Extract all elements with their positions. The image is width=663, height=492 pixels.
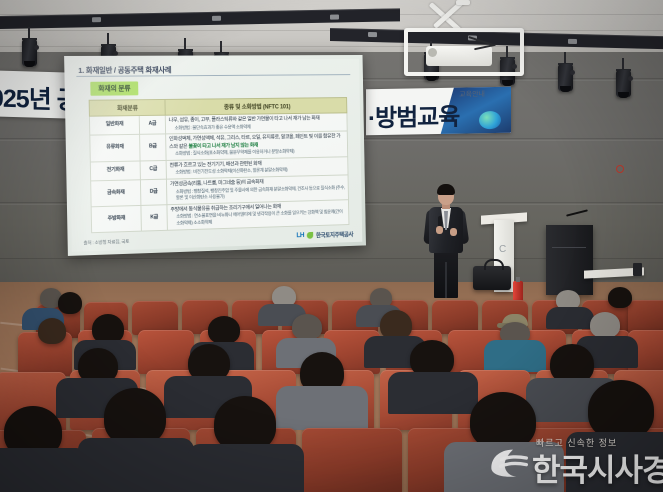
audience-head — [58, 292, 82, 314]
row-grade: B급 — [140, 134, 167, 161]
row-name: 유류화재 — [90, 134, 140, 161]
th-classification: 화재분류 — [89, 99, 165, 116]
audience-head — [38, 318, 66, 344]
seat — [628, 300, 663, 334]
wave-logo-icon — [488, 446, 528, 480]
row-name: 금속화재 — [91, 180, 141, 207]
audience-shoulders — [78, 438, 194, 492]
leaf-icon — [307, 232, 314, 239]
wall-marker — [616, 165, 624, 173]
row-grade: A급 — [139, 115, 165, 134]
row-desc: 주방에서 동식물유를 취급하는 조리기구에서 일어나는 화재 소화방법 : 연소… — [167, 200, 349, 230]
banner-right-text: ·방범교육 — [368, 97, 459, 134]
row-desc: 인화성액체, 가연성액체, 석유, 그리스, 타르, 오일, 유지류로, 알코올… — [166, 131, 348, 160]
watermark: 빠르고 신속한 정보 한국시사경제 — [488, 436, 658, 486]
banner-right-sub: 교육안내 — [459, 89, 485, 99]
seat — [138, 330, 194, 374]
watermark-name: 한국시사경제 — [532, 445, 663, 490]
projection-screen: 1. 화재일반 / 공동주택 화재사례 화재의 분류 화재분류 종류 및 소화방… — [64, 55, 366, 256]
lh-logo-mark: LH — [296, 232, 304, 239]
row-desc-highlight: 불꽃이 타고 나서 재가 남지 않는 화재 — [188, 142, 258, 149]
banner-right: 교육안내 ·방범교육 — [366, 87, 511, 136]
audience-head — [608, 287, 632, 308]
slide-title: 1. 화재일반 / 공동주택 화재사례 — [78, 64, 171, 75]
bag — [473, 266, 511, 290]
slide-section-tag: 화재의 분류 — [90, 81, 138, 95]
audience-shoulders — [484, 340, 546, 372]
wall-control-box — [633, 263, 642, 276]
audience-head — [208, 316, 240, 344]
slide-content: 1. 화재일반 / 공동주택 화재사례 화재의 분류 화재분류 종류 및 소화방… — [68, 59, 362, 252]
row-name: 주방화재 — [91, 205, 141, 232]
row-desc-method: 소화방법 : 물단속효과가 좋은 수용액 소화약제 — [169, 122, 344, 131]
audience-head — [590, 312, 620, 338]
row-grade: K급 — [141, 205, 167, 231]
audience-shoulders — [276, 386, 368, 430]
projector-icon — [404, 2, 516, 68]
lectern-symbol: C — [499, 244, 506, 255]
projector-lens — [428, 48, 437, 57]
audience-head — [588, 380, 654, 440]
audience-shoulders — [0, 448, 88, 492]
row-desc-main: 나무, 섬유, 종이, 고무, 플라스틱류와 같은 일반 가연물이 타고 나서 … — [169, 116, 320, 124]
row-desc-main: 가연성금속(리튬, 나트륨, 마그네슘 등)의 금속화재 — [170, 179, 264, 187]
slide-footer: 출처 : 소방청 자료집, 국토 — [83, 239, 129, 246]
row-grade: D급 — [140, 179, 166, 205]
row-grade: C급 — [140, 160, 166, 179]
fire-classification-table: 화재분류 종류 및 소화방법 (NFTC 101) 일반화재 A급 나무, 섬유… — [89, 97, 350, 233]
seat — [432, 300, 478, 334]
lh-logo: LH 한국토지주택공사 — [296, 230, 353, 241]
audience-shoulders — [388, 372, 478, 414]
audience-shoulders — [188, 444, 304, 492]
lh-logo-name: 한국토지주택공사 — [316, 230, 353, 240]
audience-head — [292, 314, 322, 340]
presenter — [424, 186, 468, 298]
row-name: 전기화재 — [90, 161, 140, 181]
lectern-dark — [546, 225, 593, 295]
seat — [302, 428, 402, 492]
audience-shoulders — [546, 307, 594, 329]
row-name: 일반화재 — [89, 116, 139, 136]
photo-scene: 025년 공 교육안내 ·방범교육 1. 화재일반 / 공동주택 화재사례 화재… — [0, 0, 663, 492]
